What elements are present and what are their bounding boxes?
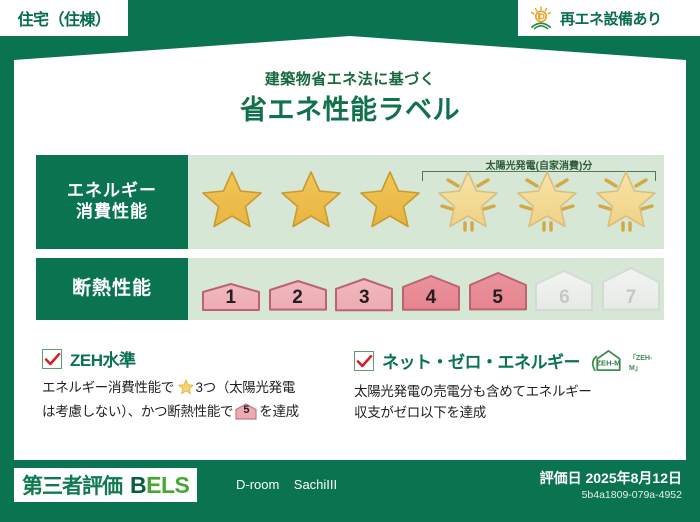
- insulation-grade-value: 5: [468, 287, 528, 309]
- bels-logo-b: B: [130, 472, 146, 498]
- inline-grade-badge: 5: [235, 403, 257, 420]
- zeh-star-count: 3つ: [195, 380, 215, 395]
- criterion-zeh-body: エネルギー消費性能で 3つ（太陽光発電は考慮しない）、かつ断熱性能で 5 を達成: [42, 378, 342, 423]
- insulation-grade-6: 6: [534, 269, 594, 312]
- star-base: [198, 168, 266, 236]
- insulation-grade-scale: 1234567: [188, 266, 664, 312]
- star-solar: [434, 168, 502, 236]
- star-base: [277, 168, 345, 236]
- criterion-net-zero-header: ネット・ゼロ・エネルギー ZEH-M 「ZEH-M」: [354, 346, 654, 375]
- star-solar: [592, 168, 660, 236]
- energy-performance-label: 住宅（住棟） 再エネ設備あり 建築物省エネ法に基づく 省: [0, 0, 700, 522]
- star-base: [356, 168, 424, 236]
- insulation-performance-label-box: 断熱性能: [36, 258, 188, 320]
- insulation-label-text: 断熱性能: [72, 277, 152, 300]
- inline-grade-value: 5: [235, 402, 257, 419]
- insulation-performance-row: 断熱性能 1234567: [36, 258, 664, 320]
- svg-text:ZEH-M: ZEH-M: [596, 358, 620, 367]
- evaluation-date-label: 評価日: [540, 470, 582, 486]
- energy-performance-label-box: エネルギー 消費性能: [36, 155, 188, 249]
- zeh-m-logo: ZEH-M 「ZEH-M」: [590, 346, 659, 375]
- housing-type-chip: 住宅（住棟）: [0, 0, 128, 36]
- zeh-body-part2: （太陽光発電: [216, 380, 295, 395]
- label-card: 建築物省エネ法に基づく 省エネ性能ラベル エネルギー 消費性能 太陽光発電(自家…: [14, 36, 686, 460]
- third-party-evaluation-label: 第三者評価: [22, 470, 122, 500]
- label-subtitle: 建築物省エネ法に基づく: [14, 68, 686, 89]
- bels-plate: 第三者評価 BELS: [14, 468, 197, 502]
- label-footer: 第三者評価 BELS D-room SachiIII 評価日 2025年8月12…: [0, 460, 700, 522]
- energy-label-line1: エネルギー: [67, 181, 157, 202]
- criterion-net-zero-energy: ネット・ゼロ・エネルギー ZEH-M 「ZEH-M」 太陽光発電の売電分も含めて…: [354, 346, 654, 424]
- insulation-grade-value: 2: [268, 287, 328, 309]
- bels-logo: BELS: [130, 472, 189, 499]
- insulation-grade-4: 4: [401, 274, 461, 312]
- renewable-equipment-text: 再エネ設備あり: [560, 8, 662, 29]
- solar-sun-icon: [528, 6, 554, 30]
- zeh-body-part1: エネルギー消費性能で: [42, 380, 174, 395]
- zeh-body-line2-pre: は考慮しない）、かつ断熱性能で: [42, 404, 233, 419]
- evaluation-id: 5b4a1809-079a-4952: [582, 489, 682, 501]
- label-title: 省エネ性能ラベル: [14, 88, 686, 127]
- insulation-grade-5: 5: [468, 271, 528, 311]
- criterion-zeh-standard: ZEH水準 エネルギー消費性能で 3つ（太陽光発電は考慮しない）、かつ断熱性能で…: [42, 346, 342, 423]
- net-zero-body-line1: 太陽光発電の売電分も含めてエネルギー: [354, 384, 592, 399]
- project-name: D-room SachiIII: [236, 477, 337, 492]
- checkbox-checked-icon: [354, 351, 374, 371]
- criterion-zeh-header: ZEH水準: [42, 346, 342, 371]
- criterion-zeh-title: ZEH水準: [70, 346, 136, 371]
- insulation-grade-7: 7: [601, 266, 661, 312]
- energy-performance-row: エネルギー 消費性能 太陽光発電(自家消費)分: [36, 155, 664, 249]
- insulation-grade-value: 1: [201, 287, 261, 309]
- inline-star-icon: [175, 383, 194, 398]
- insulation-grade-value: 7: [601, 287, 661, 309]
- housing-type-text: 住宅（住棟）: [17, 6, 110, 30]
- insulation-grade-1: 1: [201, 282, 261, 312]
- bels-logo-els: ELS: [146, 472, 189, 498]
- insulation-grades-band: 1234567: [188, 258, 664, 320]
- evaluation-date: 評価日 2025年8月12日: [540, 468, 682, 488]
- criterion-net-zero-title: ネット・ゼロ・エネルギー: [382, 348, 580, 373]
- evaluation-date-value: 2025年8月12日: [585, 470, 682, 486]
- insulation-grade-value: 4: [401, 287, 461, 309]
- insulation-grade-2: 2: [268, 279, 328, 312]
- energy-label-line2: 消費性能: [76, 202, 148, 223]
- net-zero-body-line2: 収支がゼロ以下を達成: [354, 405, 486, 420]
- insulation-grade-value: 6: [534, 287, 594, 309]
- zeh-m-house-icon: ZEH-M: [590, 346, 627, 375]
- insulation-grade-3: 3: [334, 277, 394, 312]
- zeh-m-caption: 「ZEH-M」: [629, 353, 659, 375]
- insulation-grade-value: 3: [334, 287, 394, 309]
- zeh-body-line2-post: を達成: [259, 404, 299, 419]
- energy-stars-band: 太陽光発電(自家消費)分: [188, 155, 664, 249]
- star-solar: [513, 168, 581, 236]
- checkbox-checked-icon: [42, 349, 62, 369]
- renewable-equipment-chip: 再エネ設備あり: [518, 0, 700, 36]
- criterion-net-zero-body: 太陽光発電の売電分も含めてエネルギー 収支がゼロ以下を達成: [354, 382, 654, 424]
